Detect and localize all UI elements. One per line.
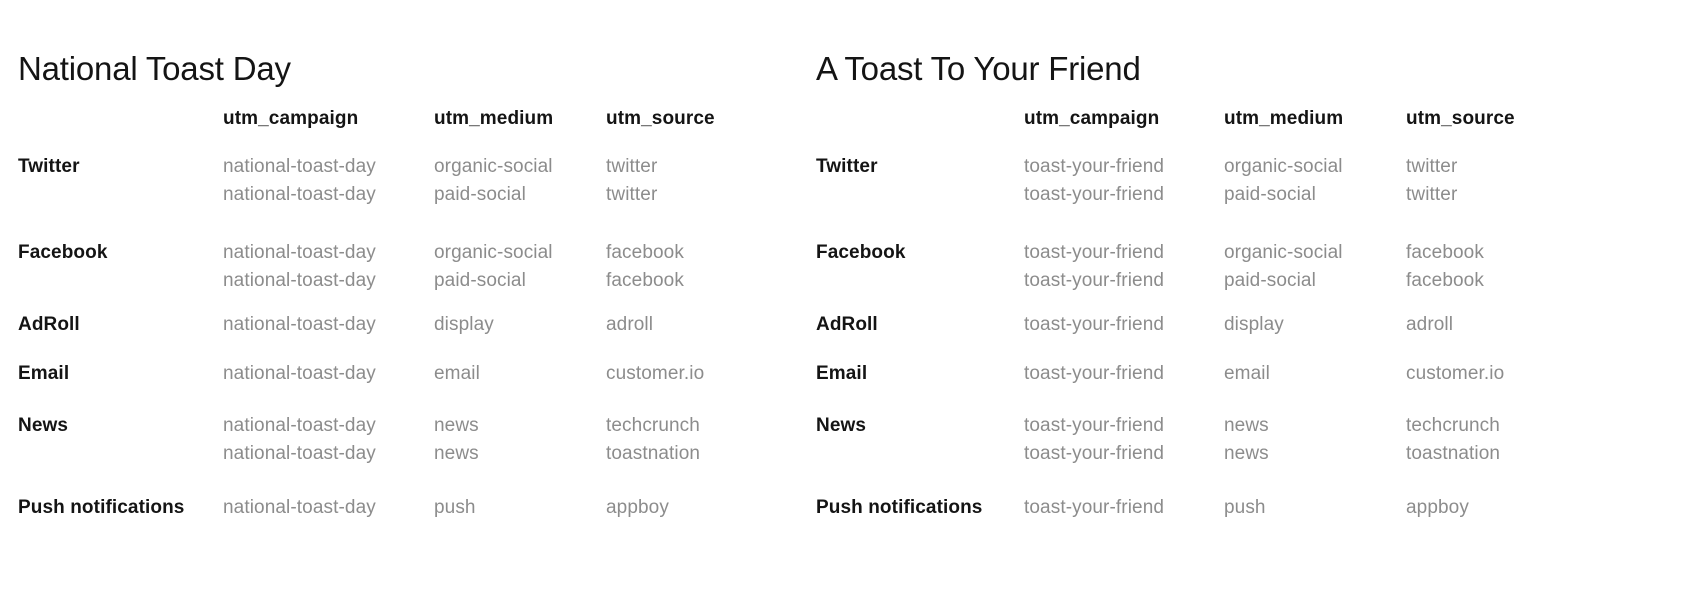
cell-source: twitter	[1406, 181, 1457, 209]
cell-source: twitter	[606, 181, 657, 209]
column-header-utm-source: utm_source	[1406, 105, 1515, 133]
cell-medium: email	[434, 360, 480, 388]
column-header-utm-medium: utm_medium	[434, 105, 553, 133]
table-row: Twitter national-toast-day organic-socia…	[0, 153, 800, 181]
table-row: Twitter toast-your-friend organic-social…	[800, 153, 1682, 181]
cell-source: toastnation	[606, 440, 700, 468]
cell-campaign: toast-your-friend	[1024, 412, 1164, 440]
cell-campaign: national-toast-day	[223, 440, 376, 468]
row-label: AdRoll	[18, 311, 80, 339]
row-label: Twitter	[18, 153, 80, 181]
row-label: Push notifications	[18, 494, 184, 522]
cell-source: adroll	[606, 311, 653, 339]
cell-medium: push	[434, 494, 476, 522]
cell-medium: news	[434, 412, 479, 440]
cell-campaign: toast-your-friend	[1024, 239, 1164, 267]
cell-medium: news	[1224, 412, 1269, 440]
cell-campaign: national-toast-day	[223, 412, 376, 440]
utm-reference-page: National Toast Day utm_campaign utm_medi…	[0, 0, 1682, 598]
row-label: Email	[816, 360, 867, 388]
cell-medium: organic-social	[1224, 153, 1343, 181]
page-title: National Toast Day	[18, 52, 291, 85]
cell-campaign: national-toast-day	[223, 360, 376, 388]
cell-campaign: national-toast-day	[223, 181, 376, 209]
cell-source: appboy	[606, 494, 669, 522]
table-row: toast-your-friend paid-social facebook	[800, 267, 1682, 295]
cell-medium: organic-social	[434, 153, 553, 181]
campaign-panel-national-toast-day: National Toast Day utm_campaign utm_medi…	[0, 0, 800, 598]
cell-source: techcrunch	[606, 412, 700, 440]
row-label: News	[816, 412, 866, 440]
table-row: News toast-your-friend news techcrunch	[800, 412, 1682, 440]
cell-campaign: toast-your-friend	[1024, 311, 1164, 339]
page-title-secondary: A Toast To Your Friend	[816, 52, 1141, 85]
cell-source: facebook	[606, 239, 684, 267]
cell-source: twitter	[606, 153, 657, 181]
table-row: national-toast-day news toastnation	[0, 440, 800, 468]
cell-medium: push	[1224, 494, 1266, 522]
cell-medium: organic-social	[1224, 239, 1343, 267]
column-header-utm-source: utm_source	[606, 105, 715, 133]
cell-campaign: national-toast-day	[223, 311, 376, 339]
row-label: Facebook	[816, 239, 906, 267]
cell-medium: display	[1224, 311, 1284, 339]
table-row: national-toast-day paid-social facebook	[0, 267, 800, 295]
table-row: AdRoll toast-your-friend display adroll	[800, 311, 1682, 339]
cell-medium: paid-social	[1224, 267, 1316, 295]
cell-source: facebook	[1406, 267, 1484, 295]
cell-source: twitter	[1406, 153, 1457, 181]
row-label: Push notifications	[816, 494, 982, 522]
cell-campaign: toast-your-friend	[1024, 360, 1164, 388]
row-label: Twitter	[816, 153, 878, 181]
column-header-utm-campaign: utm_campaign	[223, 105, 358, 133]
cell-campaign: national-toast-day	[223, 267, 376, 295]
row-label: News	[18, 412, 68, 440]
cell-source: appboy	[1406, 494, 1469, 522]
row-label: Email	[18, 360, 69, 388]
table-row: AdRoll national-toast-day display adroll	[0, 311, 800, 339]
campaign-panel-a-toast-to-your-friend: A Toast To Your Friend utm_campaign utm_…	[800, 0, 1682, 598]
cell-medium: paid-social	[434, 181, 526, 209]
cell-source: toastnation	[1406, 440, 1500, 468]
table-row: toast-your-friend paid-social twitter	[800, 181, 1682, 209]
cell-source: facebook	[1406, 239, 1484, 267]
cell-medium: news	[1224, 440, 1269, 468]
cell-campaign: national-toast-day	[223, 494, 376, 522]
cell-source: customer.io	[1406, 360, 1504, 388]
cell-source: facebook	[606, 267, 684, 295]
cell-source: adroll	[1406, 311, 1453, 339]
cell-campaign: national-toast-day	[223, 153, 376, 181]
cell-campaign: national-toast-day	[223, 239, 376, 267]
cell-medium: organic-social	[434, 239, 553, 267]
cell-medium: paid-social	[434, 267, 526, 295]
cell-source: customer.io	[606, 360, 704, 388]
cell-medium: paid-social	[1224, 181, 1316, 209]
table-row: Push notifications national-toast-day pu…	[0, 494, 800, 522]
cell-medium: email	[1224, 360, 1270, 388]
cell-campaign: toast-your-friend	[1024, 181, 1164, 209]
cell-medium: display	[434, 311, 494, 339]
table-row: Email toast-your-friend email customer.i…	[800, 360, 1682, 388]
cell-campaign: toast-your-friend	[1024, 440, 1164, 468]
table-row: toast-your-friend news toastnation	[800, 440, 1682, 468]
row-label: AdRoll	[816, 311, 878, 339]
table-row: national-toast-day paid-social twitter	[0, 181, 800, 209]
table-row: News national-toast-day news techcrunch	[0, 412, 800, 440]
table-row: Facebook toast-your-friend organic-socia…	[800, 239, 1682, 267]
cell-campaign: toast-your-friend	[1024, 267, 1164, 295]
row-label: Facebook	[18, 239, 108, 267]
table-row: Push notifications toast-your-friend pus…	[800, 494, 1682, 522]
cell-source: techcrunch	[1406, 412, 1500, 440]
cell-campaign: toast-your-friend	[1024, 153, 1164, 181]
column-header-utm-medium: utm_medium	[1224, 105, 1343, 133]
cell-medium: news	[434, 440, 479, 468]
column-header-utm-campaign: utm_campaign	[1024, 105, 1159, 133]
table-row: Facebook national-toast-day organic-soci…	[0, 239, 800, 267]
cell-campaign: toast-your-friend	[1024, 494, 1164, 522]
table-row: Email national-toast-day email customer.…	[0, 360, 800, 388]
